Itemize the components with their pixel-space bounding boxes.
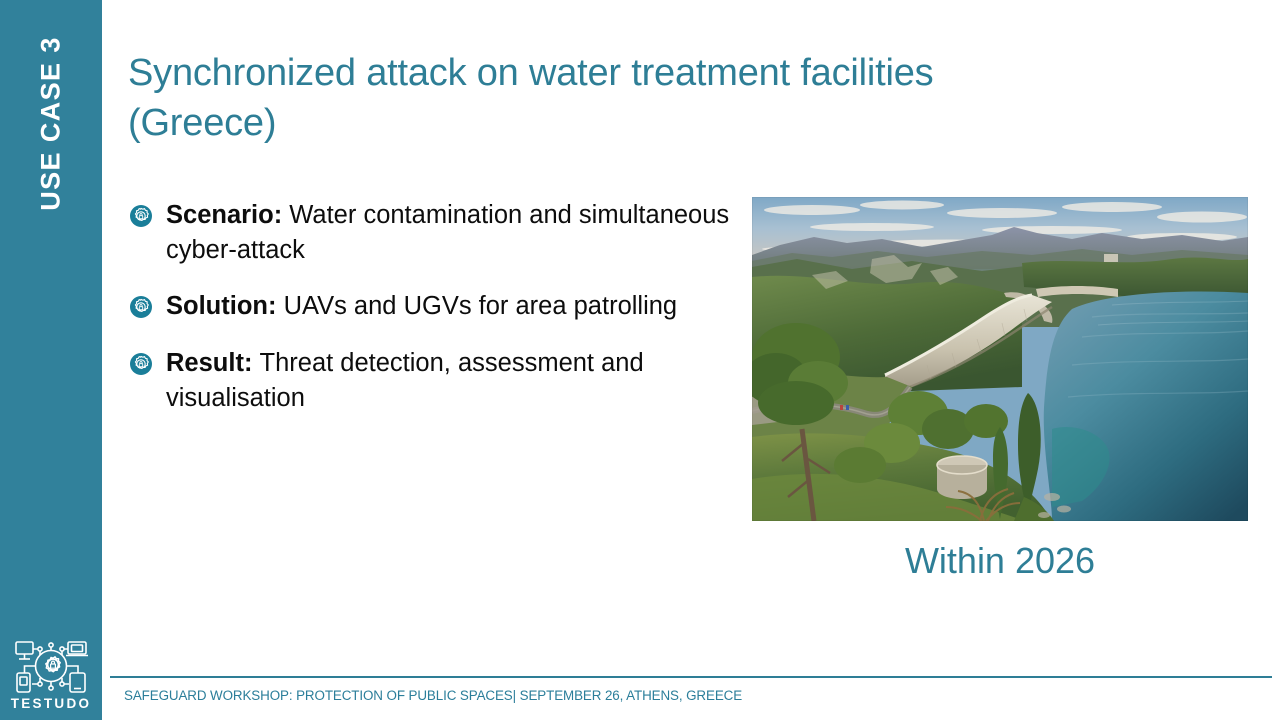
gear-lock-bullet-icon: [130, 296, 152, 318]
list-item: Solution: UAVs and UGVs for area patroll…: [130, 289, 730, 324]
footer-divider: [110, 676, 1272, 678]
use-case-label: USE CASE 3: [36, 36, 67, 211]
list-item-text: Result: Threat detection, assessment and…: [166, 346, 730, 415]
page-title-line1: Synchronized attack on water treatment f…: [128, 52, 933, 94]
gear-lock-bullet-icon: [130, 353, 152, 375]
list-item-text: Scenario: Water contamination and simult…: [166, 198, 730, 267]
list-item-text: Solution: UAVs and UGVs for area patroll…: [166, 289, 677, 324]
bullet-list: Scenario: Water contamination and simult…: [130, 198, 730, 437]
dam-reservoir-photo: [752, 197, 1248, 521]
timeline-caption: Within 2026: [752, 540, 1248, 582]
list-item-body: UAVs and UGVs for area patrolling: [284, 292, 678, 320]
list-item-separator: :: [274, 201, 290, 229]
list-item: Result: Threat detection, assessment and…: [130, 346, 730, 415]
page-title-line2: (Greece): [128, 102, 276, 144]
list-item-lead: Scenario: [166, 201, 274, 229]
testudo-logo: TESTUDO: [0, 637, 102, 711]
testudo-wordmark: TESTUDO: [11, 697, 92, 711]
list-item: Scenario: Water contamination and simult…: [130, 198, 730, 267]
list-item-separator: :: [268, 292, 284, 320]
page-title: Synchronized attack on water treatment f…: [128, 48, 1088, 148]
list-item-lead: Result: [166, 349, 244, 377]
gear-lock-bullet-icon: [130, 205, 152, 227]
list-item-separator: :: [244, 349, 260, 377]
testudo-network-lock-icon: [12, 637, 90, 695]
left-sidebar: USE CASE 3: [0, 0, 102, 720]
footer-text: SAFEGUARD WORKSHOP: PROTECTION OF PUBLIC…: [124, 688, 742, 703]
list-item-lead: Solution: [166, 292, 268, 320]
